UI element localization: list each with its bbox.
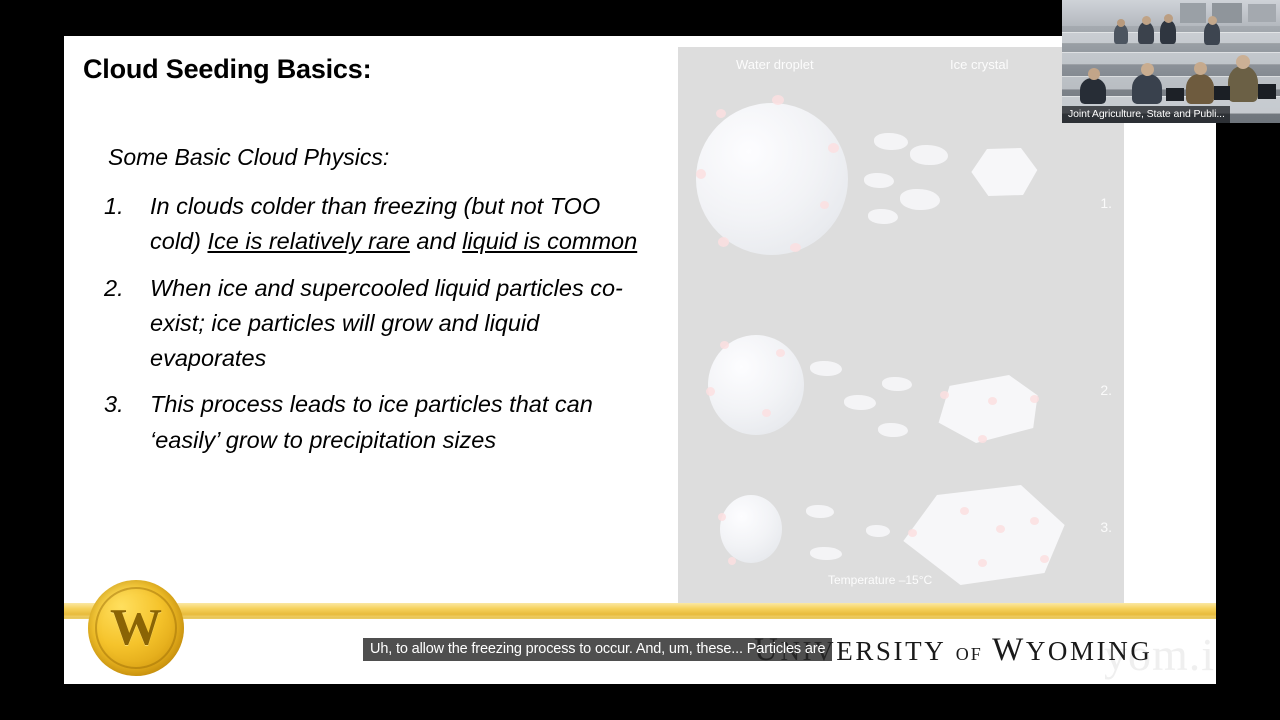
figure-temperature-caption: Temperature –15°C [828, 573, 932, 587]
vapor-fragment [868, 209, 898, 224]
nucleus-dot [978, 559, 987, 567]
monitor [1258, 84, 1276, 99]
nucleus-dot [1030, 395, 1039, 403]
vapor-fragment [844, 395, 876, 410]
bullet-list: 1.In clouds colder than freezing (but no… [84, 189, 644, 458]
video-player-stage: Cloud Seeding Basics: Some Basic Cloud P… [0, 0, 1280, 720]
list-item: 2.When ice and supercooled liquid partic… [84, 271, 644, 377]
list-item-number: 2. [104, 271, 142, 306]
attendee-head [1117, 19, 1125, 27]
nucleus-dot [790, 243, 801, 252]
monitor [1214, 86, 1230, 100]
nucleus-dot [772, 95, 784, 105]
attendee-head [1208, 16, 1217, 25]
attendee [1132, 74, 1162, 104]
list-item-emphasis: liquid is common [462, 228, 637, 254]
list-item-text: This process leads to ice particles that… [150, 391, 593, 452]
vapor-fragment [810, 361, 842, 376]
attendee-head [1141, 63, 1154, 76]
wordmark-w: W [992, 632, 1026, 668]
room-window [1180, 3, 1206, 23]
nucleus-dot [1030, 517, 1039, 525]
list-item-number: 1. [104, 189, 142, 224]
attendee-head [1088, 68, 1100, 80]
nucleus-dot [1040, 555, 1049, 563]
vapor-fragment [910, 145, 948, 165]
vapor-fragment [810, 547, 842, 560]
nucleus-dot [940, 391, 949, 399]
nucleus-dot [718, 513, 726, 521]
figure-row-number-1: 1. [1100, 195, 1112, 211]
figure-label-water-droplet: Water droplet [736, 57, 814, 72]
nucleus-dot [716, 109, 726, 118]
list-item: 1.In clouds colder than freezing (but no… [84, 189, 644, 260]
vapor-fragment [882, 377, 912, 391]
water-droplet-row2 [708, 335, 804, 435]
nucleus-dot [820, 201, 829, 209]
vapor-fragment [806, 505, 834, 518]
ice-crystal-row2 [932, 375, 1042, 443]
ice-crystal-row1 [970, 147, 1038, 197]
nucleus-dot [776, 349, 785, 357]
nucleus-dot [706, 387, 715, 396]
figure-row-number-2: 2. [1100, 382, 1112, 398]
nucleus-dot [988, 397, 997, 405]
page-title: Cloud Seeding Basics: [83, 54, 371, 85]
nucleus-dot [996, 525, 1005, 533]
vapor-fragment [900, 189, 940, 210]
attendee [1186, 74, 1214, 104]
list-item: 3.This process leads to ice particles th… [84, 387, 644, 458]
water-droplet-row3 [720, 495, 782, 563]
vapor-fragment [866, 525, 890, 537]
vapor-fragment [864, 173, 894, 188]
nucleus-dot [728, 557, 736, 565]
nucleus-dot [908, 529, 917, 537]
seal-monogram: W [88, 602, 184, 654]
attendee-head [1142, 16, 1151, 25]
vapor-fragment [874, 133, 908, 150]
webcam-session-label: Joint Agriculture, State and Publi... [1062, 106, 1230, 123]
attendee [1160, 20, 1176, 44]
monitor [1166, 88, 1184, 101]
ice-crystal-row3 [900, 485, 1068, 585]
water-droplet-row1 [696, 103, 848, 255]
nucleus-dot [828, 143, 839, 153]
attendee [1080, 78, 1106, 104]
slide-intro-text: Some Basic Cloud Physics: [108, 144, 644, 171]
attendee [1204, 22, 1220, 45]
nucleus-dot [762, 409, 771, 417]
gold-accent-band [64, 603, 1216, 619]
nucleus-dot [960, 507, 969, 515]
list-item-text: When ice and supercooled liquid particle… [150, 275, 623, 372]
wordmark-rsity: RSITY [855, 636, 946, 666]
cloud-physics-diagram: Water droplet Ice crystal Temperature –1… [678, 47, 1124, 603]
slide-body-column: Some Basic Cloud Physics: 1.In clouds co… [84, 144, 644, 469]
meeting-room-video [1062, 0, 1280, 123]
wordmark-yoming: YOMING [1026, 636, 1153, 666]
list-item-text: and [410, 228, 462, 254]
attendee [1114, 24, 1128, 44]
attendee-head [1236, 55, 1250, 69]
nucleus-dot [696, 169, 706, 179]
vapor-fragment [878, 423, 908, 437]
figure-row-number-3: 3. [1100, 519, 1112, 535]
attendee-head [1164, 14, 1173, 23]
list-item-emphasis: Ice is relatively rare [207, 228, 409, 254]
nucleus-dot [978, 435, 987, 443]
webcam-overlay[interactable]: Joint Agriculture, State and Publi... [1062, 0, 1280, 123]
wordmark-of: OF [956, 644, 983, 664]
nucleus-dot [718, 237, 729, 247]
attendee [1138, 22, 1154, 44]
nucleus-dot [720, 341, 729, 349]
room-window [1248, 4, 1276, 22]
list-item-number: 3. [104, 387, 142, 422]
attendee [1228, 66, 1258, 102]
university-seal-logo: W [88, 580, 184, 676]
attendee-head [1194, 62, 1207, 75]
closed-caption-text: Uh, to allow the freezing process to occ… [363, 638, 832, 661]
presentation-slide: Cloud Seeding Basics: Some Basic Cloud P… [64, 36, 1216, 684]
figure-label-ice-crystal: Ice crystal [950, 57, 1009, 72]
